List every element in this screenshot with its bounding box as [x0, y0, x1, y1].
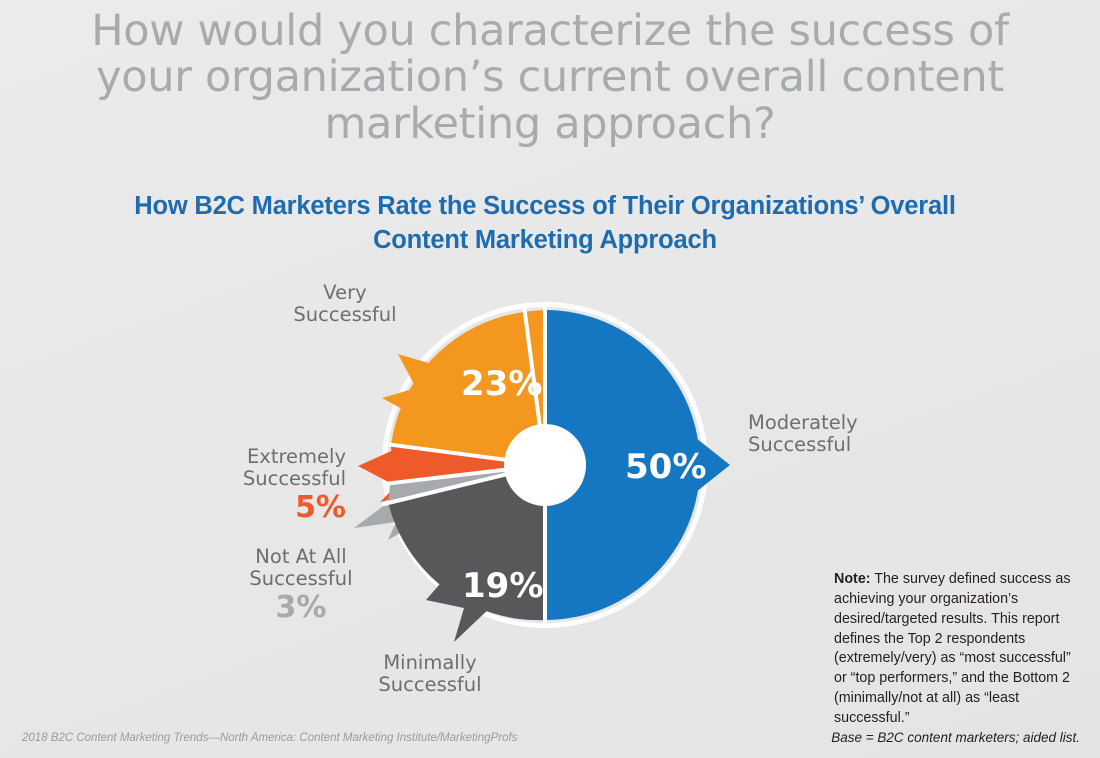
note-block: Note: The survey defined success as achi…	[834, 570, 1084, 729]
slice-label-very-successful: Very Successful	[285, 282, 405, 326]
slice-label-minimally-successful: Minimally Successful	[360, 652, 500, 696]
slice-label-very-successful-line1: Very	[285, 282, 405, 304]
slice-label-extremely-successful-line2: Successful	[230, 468, 346, 490]
slice-value-not-at-all-successful: 3%	[238, 590, 364, 626]
slice-label-moderately-successful-line2: Successful	[748, 434, 928, 456]
page-title: How would you characterize the success o…	[60, 8, 1040, 147]
slice-value-extremely-successful: 5%	[230, 490, 346, 526]
infographic-canvas: How would you characterize the success o…	[0, 0, 1100, 758]
pie-chart: 50% 23% 19% Very Successful Extremely Su…	[230, 270, 890, 700]
slice-label-very-successful-line2: Successful	[285, 304, 405, 326]
slice-value-minimally: 19%	[462, 566, 543, 606]
slice-value-moderately: 50%	[625, 447, 706, 487]
slice-label-not-at-all-successful-line2: Successful	[238, 568, 364, 590]
slice-label-minimally-successful-line1: Minimally	[360, 652, 500, 674]
base-footer: Base = B2C content marketers; aided list…	[831, 730, 1080, 745]
slice-label-minimally-successful-line2: Successful	[360, 674, 500, 696]
note-label: Note:	[834, 571, 871, 587]
slice-value-very: 23%	[461, 364, 542, 404]
slice-label-moderately-successful-line1: Moderately	[748, 412, 928, 434]
slice-label-moderately-successful: Moderately Successful	[748, 412, 928, 456]
slice-label-extremely-successful-line1: Extremely	[230, 446, 346, 468]
slice-label-not-at-all-successful: Not At All Successful 3%	[238, 546, 364, 626]
slice-label-extremely-successful: Extremely Successful 5%	[230, 446, 346, 526]
slice-label-not-at-all-successful-line1: Not At All	[238, 546, 364, 568]
donut-hole	[504, 424, 586, 506]
note-text: The survey defined success as achieving …	[834, 571, 1071, 726]
source-footer: 2018 B2C Content Marketing Trends—North …	[22, 732, 517, 744]
chart-title: How B2C Marketers Rate the Success of Th…	[110, 190, 980, 257]
